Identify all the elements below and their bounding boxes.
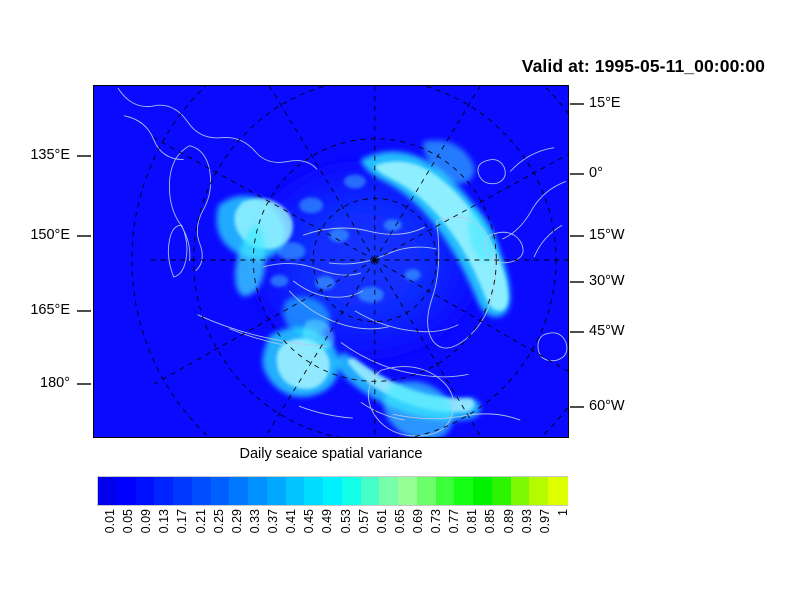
colorbar-segment: [229, 477, 248, 505]
colorbar-tick-label: 0.89: [502, 509, 516, 533]
colorbar-tick-label: 0.41: [284, 509, 298, 533]
colorbar-segment: [511, 477, 530, 505]
axis-tick-right: [570, 281, 584, 283]
colorbar-segment: [417, 477, 436, 505]
colorbar-segment: [173, 477, 192, 505]
colorbar-tick-label: 0.13: [157, 509, 171, 533]
colorbar-tick-label: 0.17: [175, 509, 189, 533]
colorbar-tick-label: 0.65: [393, 509, 407, 533]
colorbar-segment: [379, 477, 398, 505]
colorbar-tick-label: 0.93: [520, 509, 534, 533]
colorbar-segment: [342, 477, 361, 505]
axis-tick-left: [77, 155, 91, 157]
colorbar-segment: [267, 477, 286, 505]
colorbar-tick-label: 0.01: [103, 509, 117, 533]
map-plot-area[interactable]: [93, 85, 569, 438]
axis-label-right-2: 15°W: [589, 227, 625, 243]
colorbar-tick-label: 0.81: [465, 509, 479, 533]
colorbar-segment: [529, 477, 548, 505]
colorbar-segment: [286, 477, 305, 505]
axis-label-right-1: 0°: [589, 165, 603, 181]
colorbar-tick-label: 0.61: [375, 509, 389, 533]
axis-label-right-5: 60°W: [589, 398, 625, 414]
colorbar-segment: [98, 477, 117, 505]
axis-label-right-4: 45°W: [589, 323, 625, 339]
axis-label-right-3: 30°W: [589, 273, 625, 289]
axis-label-left-2: 165°E: [0, 302, 70, 318]
colorbar-tick-label: 0.77: [447, 509, 461, 533]
colorbar-segment: [154, 477, 173, 505]
colorbar-tick-label: 0.29: [230, 509, 244, 533]
colorbar[interactable]: [97, 476, 568, 506]
axis-tick-left: [77, 310, 91, 312]
colorbar-segment: [304, 477, 323, 505]
axis-tick-left: [77, 235, 91, 237]
colorbar-segment: [398, 477, 417, 505]
colorbar-tick-label: 0.05: [121, 509, 135, 533]
colorbar-segment: [492, 477, 511, 505]
colorbar-tick-label: 0.21: [194, 509, 208, 533]
figure-canvas: Valid at: 1995-05-11_00:00:00: [0, 0, 792, 612]
colorbar-tick-label: 0.45: [302, 509, 316, 533]
colorbar-segment: [548, 477, 567, 505]
colorbar-segment: [323, 477, 342, 505]
colorbar-tick-label: 0.85: [483, 509, 497, 533]
colorbar-gradient: [97, 476, 568, 506]
colorbar-segment: [361, 477, 380, 505]
axis-label-left-3: 180°: [0, 375, 70, 391]
axis-tick-right: [570, 406, 584, 408]
colorbar-segment: [248, 477, 267, 505]
colorbar-tick-label: 0.57: [357, 509, 371, 533]
axis-tick-right: [570, 331, 584, 333]
colorbar-tick-label: 1: [556, 509, 570, 516]
map-caption: Daily seaice spatial variance: [93, 446, 569, 462]
axis-label-left-1: 150°E: [0, 227, 70, 243]
colorbar-tick-label: 0.25: [212, 509, 226, 533]
colorbar-tick-labels: 0.010.050.090.130.170.210.250.290.330.37…: [97, 509, 568, 579]
colorbar-tick-label: 0.53: [339, 509, 353, 533]
colorbar-tick-label: 0.69: [411, 509, 425, 533]
page-title: Valid at: 1995-05-11_00:00:00: [522, 56, 765, 77]
colorbar-segment: [117, 477, 136, 505]
axis-tick-right: [570, 235, 584, 237]
colorbar-tick-label: 0.49: [320, 509, 334, 533]
axis-tick-left: [77, 383, 91, 385]
colorbar-tick-label: 0.37: [266, 509, 280, 533]
colorbar-segment: [454, 477, 473, 505]
colorbar-segment: [473, 477, 492, 505]
colorbar-segment: [192, 477, 211, 505]
axis-label-left-0: 135°E: [0, 147, 70, 163]
colorbar-segment: [136, 477, 155, 505]
colorbar-segment: [436, 477, 455, 505]
colorbar-tick-label: 0.97: [538, 509, 552, 533]
axis-tick-right: [570, 173, 584, 175]
axis-label-right-0: 15°E: [589, 95, 621, 111]
colorbar-tick-label: 0.09: [139, 509, 153, 533]
colorbar-tick-label: 0.33: [248, 509, 262, 533]
arctic-map: [94, 86, 568, 437]
colorbar-segment: [211, 477, 230, 505]
axis-tick-right: [570, 103, 584, 105]
colorbar-tick-label: 0.73: [429, 509, 443, 533]
